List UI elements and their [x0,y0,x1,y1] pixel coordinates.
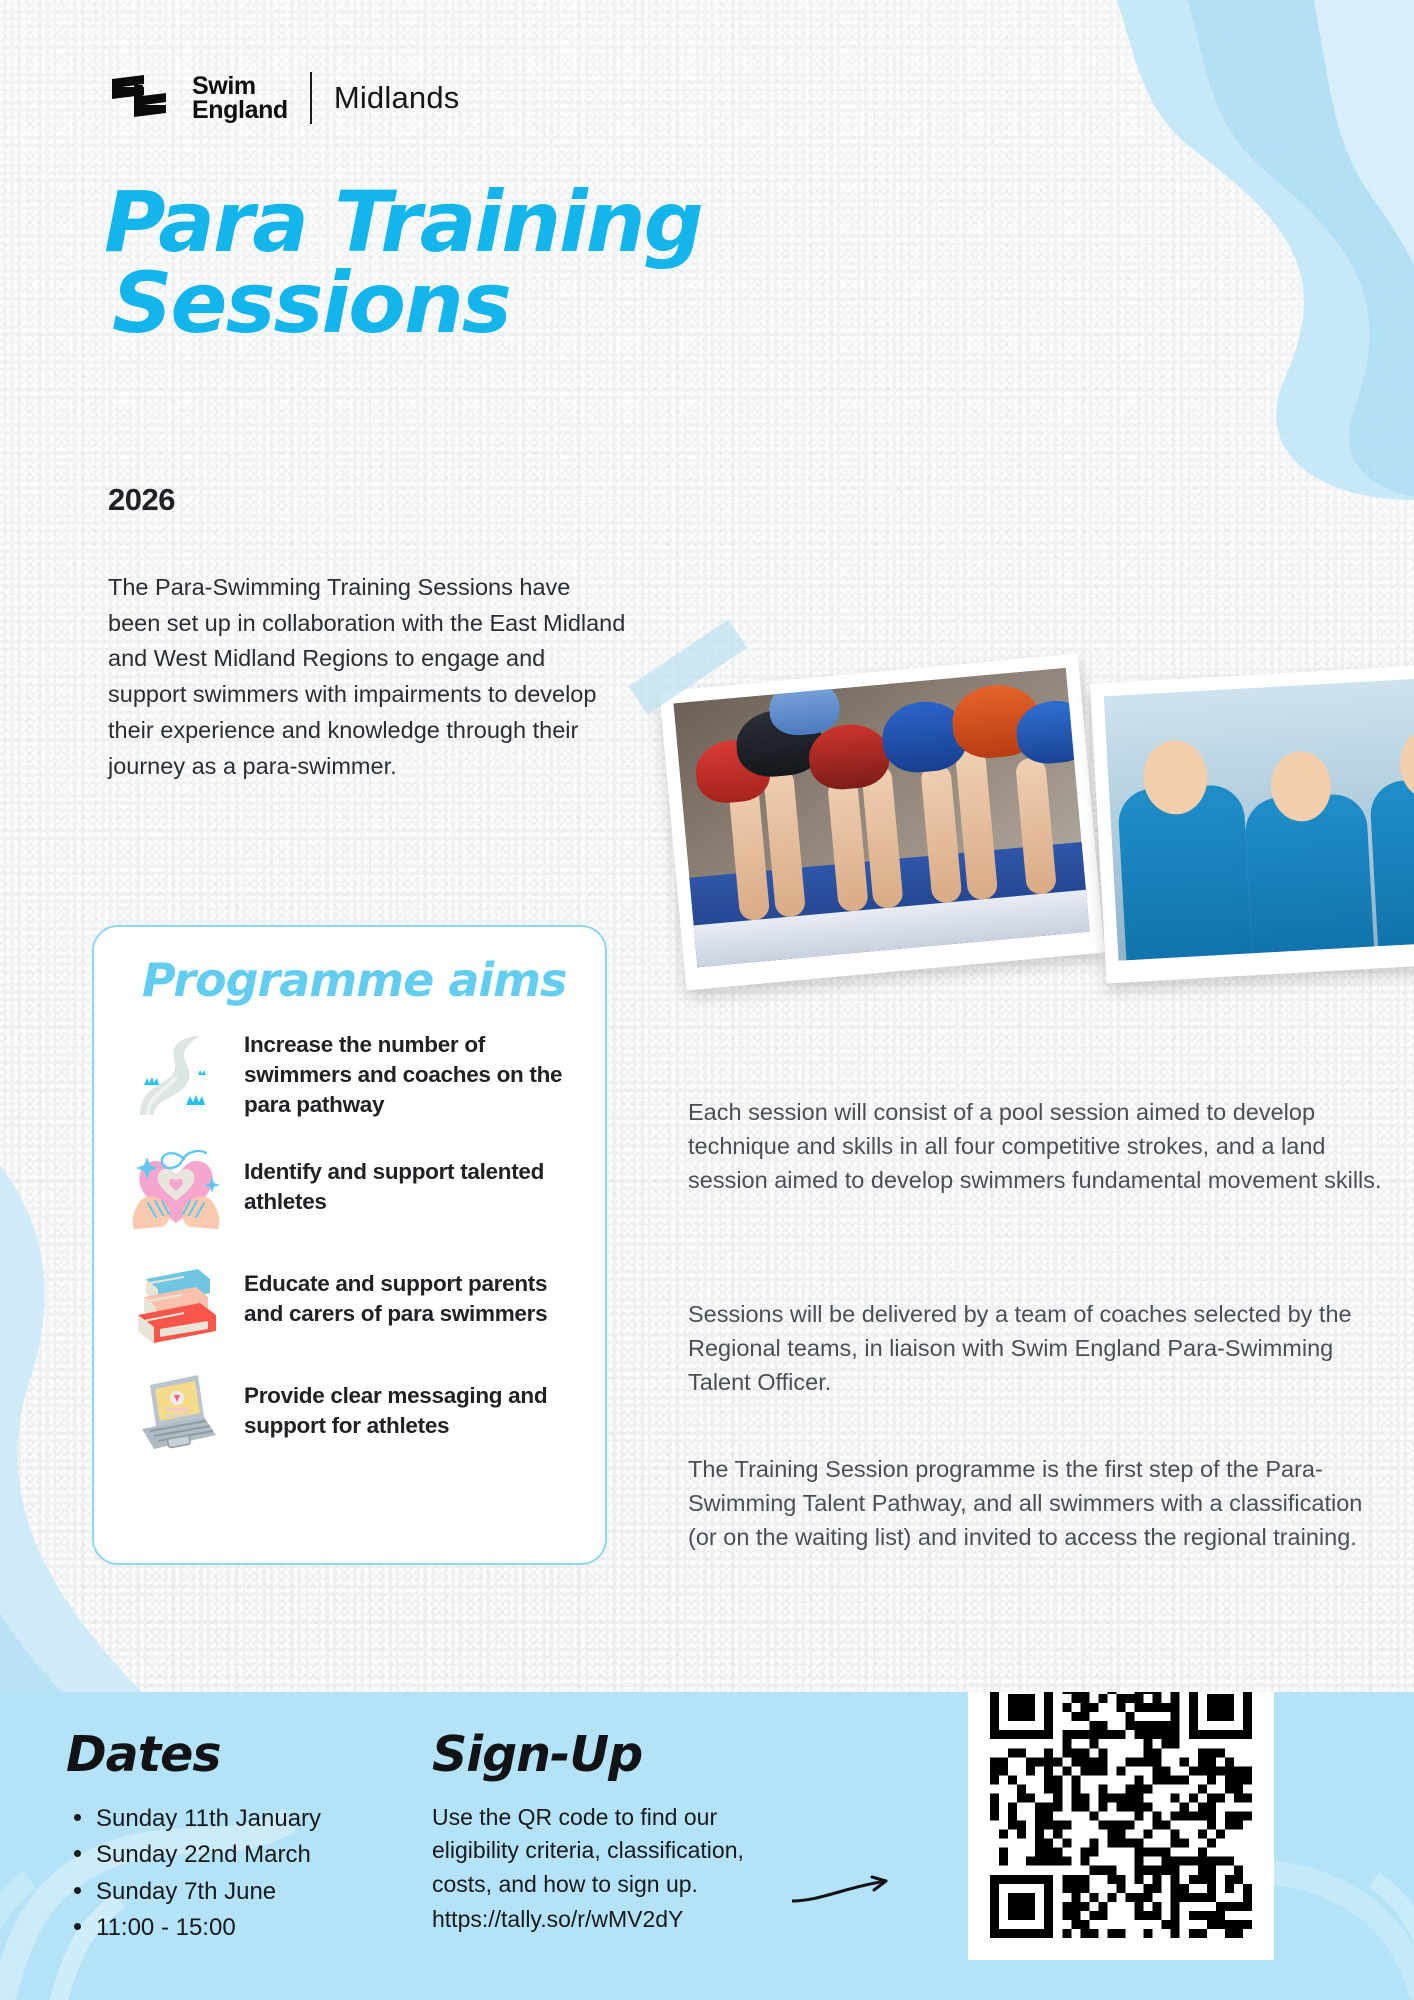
list-item: 11:00 - 15:00 [66,1910,321,1946]
body-paragraph-2: Sessions will be delivered by a team of … [688,1297,1388,1399]
hands-holding-heart-icon [124,1141,228,1233]
logo-word-swim: Swim [192,74,288,99]
swim-england-s-mark-icon [108,73,170,123]
dates-title: Dates [66,1726,321,1783]
signup-title: Sign-Up [432,1726,762,1783]
aim-item-label: Provide clear messaging and support for … [244,1381,575,1441]
qr-code-panel[interactable] [968,1692,1274,1960]
page-title-line1: Para Training [104,182,702,263]
aim-item: Identify and support talented athletes [124,1141,575,1233]
signup-url[interactable]: https://tally.so/r/wMV2dY [432,1903,762,1936]
logo-divider [310,72,312,124]
stack-of-books-icon [124,1253,228,1345]
list-item: Sunday 11th January [66,1801,321,1837]
programme-aims-title: Programme aims [142,953,575,1007]
body-paragraph-1: Each session will consist of a pool sess… [688,1095,1388,1197]
wave-decoration-top-right [814,0,1414,500]
logo-region-label: Midlands [334,80,460,116]
signup-block: Sign-Up Use the QR code to find our elig… [432,1726,762,1936]
page-title-line2: Sessions [112,263,702,344]
logo-word-england: England [192,98,288,123]
aim-item-label: Educate and support parents and carers o… [244,1269,575,1329]
winding-path-icon [124,1029,228,1121]
page-title: Para Training Sessions [104,182,702,343]
programme-aims-card: Programme aims Increase the number of sw… [92,925,607,1565]
aim-item: Increase the number of swimmers and coac… [124,1029,575,1121]
aim-item: Provide clear messaging and support for … [124,1365,575,1457]
arrow-right-icon [790,1867,900,1907]
aim-item: Educate and support parents and carers o… [124,1253,575,1345]
swim-england-midlands-logo: Swim England Midlands [108,72,459,124]
body-paragraph-3: The Training Session programme is the fi… [688,1452,1388,1554]
list-item: Sunday 7th June [66,1874,321,1910]
swimmers-on-blocks-photo [659,654,1104,991]
intro-paragraph: The Para-Swimming Training Sessions have… [108,570,628,784]
aim-item-label: Identify and support talented athletes [244,1157,575,1217]
footer-banner: Dates Sunday 11th January Sunday 22nd Ma… [0,1692,1414,2000]
signup-instructions: Use the QR code to find our eligibility … [432,1801,762,1901]
laptop-icon [124,1365,228,1457]
dates-block: Dates Sunday 11th January Sunday 22nd Ma… [66,1726,321,1947]
dates-list: Sunday 11th January Sunday 22nd March Su… [66,1801,321,1947]
aim-item-label: Increase the number of swimmers and coac… [244,1030,575,1120]
qr-code-image[interactable] [990,1692,1252,1938]
coaches-team-photo [1090,661,1414,984]
year-label: 2026 [108,482,175,518]
list-item: Sunday 22nd March [66,1837,321,1873]
